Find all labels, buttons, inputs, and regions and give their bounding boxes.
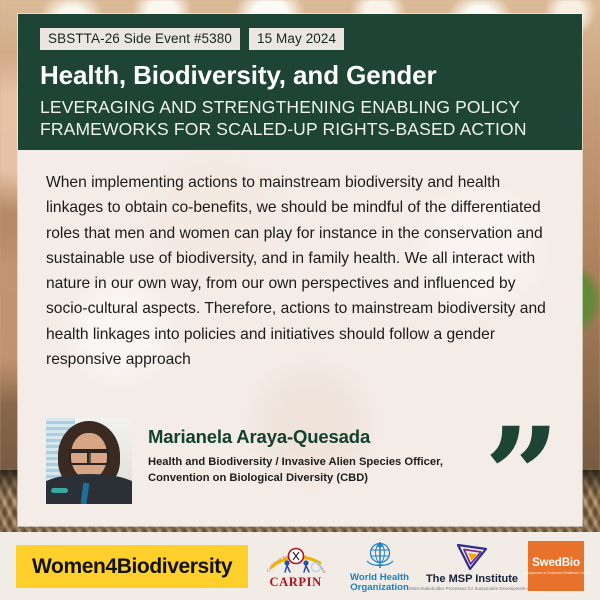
event-quote-poster: SBSTTA-26 Side Event #5380 15 May 2024 H… (0, 0, 600, 600)
attribution-text: Marianela Araya-Quesada Health and Biodi… (148, 418, 443, 486)
quote-card: SBSTTA-26 Side Event #5380 15 May 2024 H… (18, 14, 582, 526)
event-date-badge: 15 May 2024 (249, 28, 344, 50)
person-role-line-1: Health and Biodiversity / Invasive Alien… (148, 454, 443, 470)
swedbio-wordmark: SwedBio (532, 557, 580, 569)
msp-triangle-icon (455, 541, 489, 571)
msp-sublabel: Multi-Stakeholder Processes for Sustaina… (409, 587, 534, 591)
quote-text: When implementing actions to mainstream … (46, 170, 548, 372)
logo-carpin[interactable]: Caribbean Fauna Information Network CARP… (260, 543, 331, 589)
who-emblem-icon (364, 539, 396, 571)
who-wordmark-line-2: Organization (350, 582, 409, 593)
page-subtitle: LEVERAGING AND STRENGTHENING ENABLING PO… (40, 97, 560, 140)
msp-wordmark: The MSP Institute (426, 574, 518, 586)
swedbio-sublabel: a programme at Stockholm Resilience Cent… (523, 571, 590, 575)
poster-header: SBSTTA-26 Side Event #5380 15 May 2024 H… (18, 14, 582, 150)
event-code-badge: SBSTTA-26 Side Event #5380 (40, 28, 240, 50)
header-badges: SBSTTA-26 Side Event #5380 15 May 2024 (40, 28, 560, 50)
partner-logo-bar: Women4Biodiversity Caribbean Fauna Infor… (0, 532, 600, 600)
who-wordmark: World Health Organization (350, 573, 409, 593)
logo-who[interactable]: World Health Organization (343, 539, 416, 593)
logo-swedbio[interactable]: SwedBio a programme at Stockholm Resilie… (528, 541, 584, 591)
person-name: Marianela Araya-Quesada (148, 426, 443, 448)
carpin-wordmark: CARPIN (270, 576, 322, 589)
avatar (46, 418, 132, 504)
carpin-emblem-icon: Caribbean Fauna Information Network (263, 543, 329, 577)
page-title: Health, Biodiversity, and Gender (40, 62, 560, 89)
person-role-line-2: Convention on Biological Diversity (CBD) (148, 470, 443, 486)
quotation-mark-icon: ” (484, 436, 560, 518)
quote-section: When implementing actions to mainstream … (18, 150, 582, 372)
avatar-glasses-icon (69, 449, 109, 461)
attribution-block: Marianela Araya-Quesada Health and Biodi… (46, 418, 443, 504)
logo-women4biodiversity[interactable]: Women4Biodiversity (16, 545, 248, 588)
avatar-bracelet (51, 488, 68, 493)
logo-msp-institute[interactable]: The MSP Institute Multi-Stakeholder Proc… (428, 541, 516, 591)
